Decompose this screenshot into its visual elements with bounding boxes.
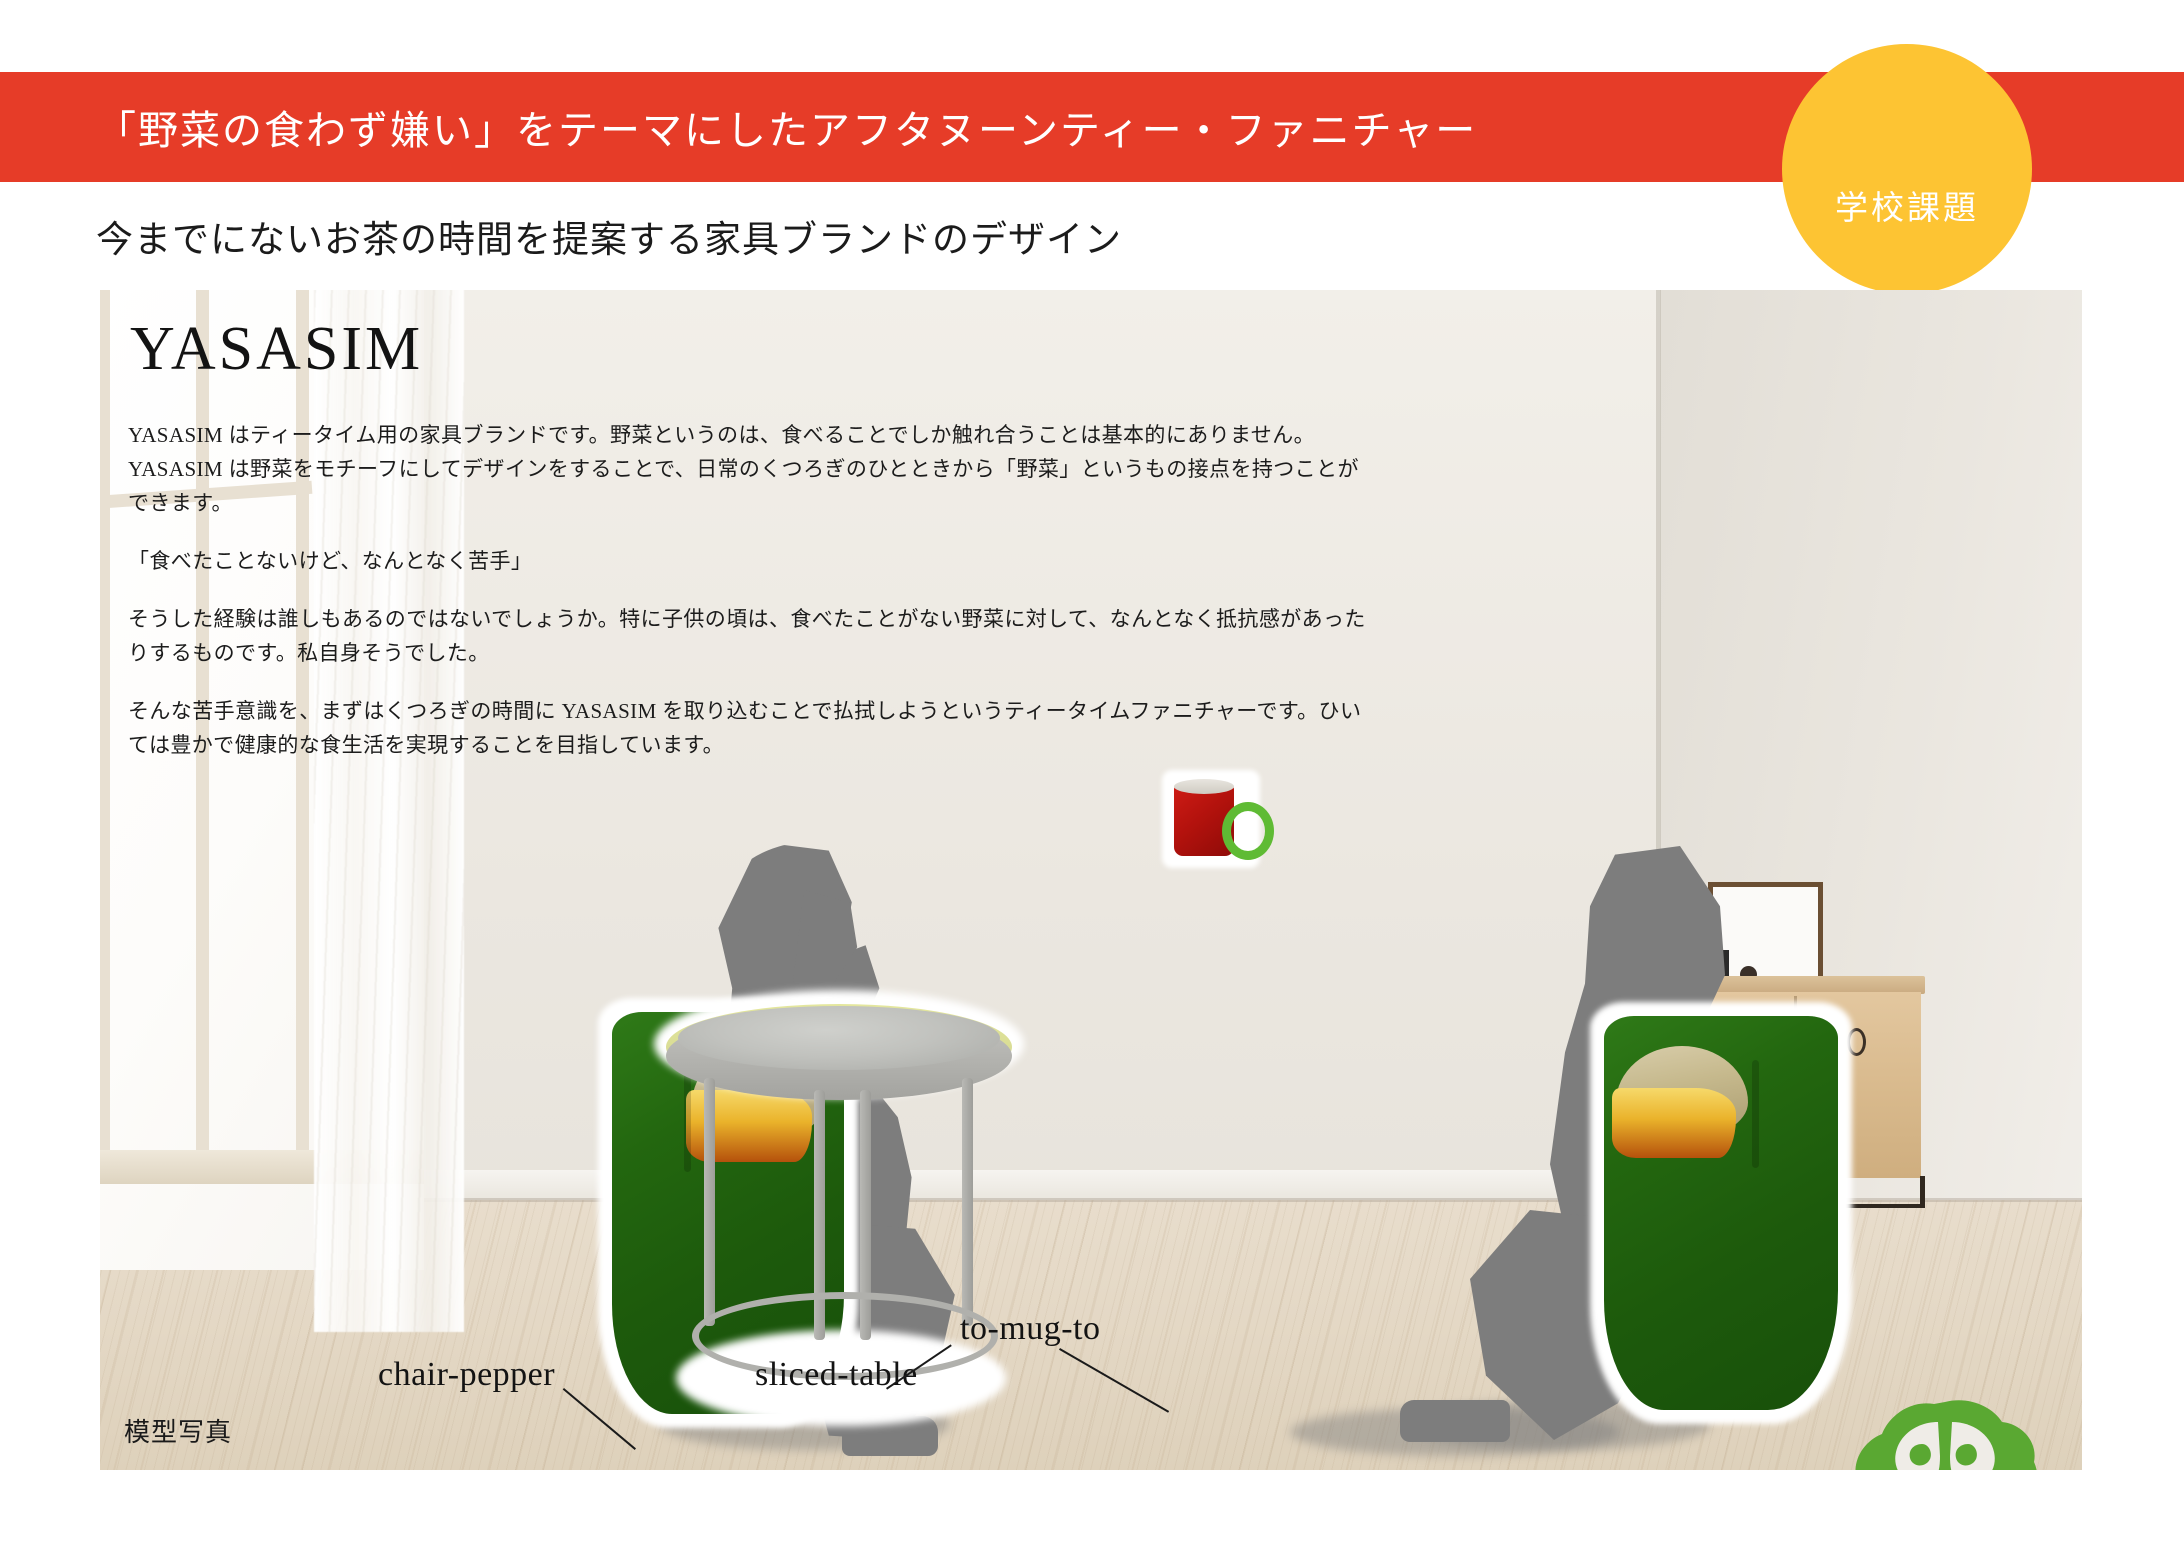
brand-logo: やさしむ — [1800, 1400, 2082, 1470]
description-paragraph-4: そんな苦手意識を、まずはくつろぎの時間に YASASIM を取り込むことで払拭し… — [128, 694, 1378, 762]
table-leg-4 — [962, 1078, 973, 1326]
brand-description: YASASIM はティータイム用の家具ブランドです。野菜というのは、食べることで… — [128, 418, 1378, 788]
model-photo: 模型写真 — [100, 290, 2082, 1470]
chair-right-seed-pad — [1612, 1088, 1736, 1158]
portfolio-slide: 「野菜の食わず嫌い」をテーマにしたアフタヌーンティー・ファニチャー 学校課題 今… — [0, 0, 2184, 1544]
status-badge: 学校課題 — [1782, 44, 2032, 294]
callout-to-mug-to: to-mug-to — [960, 1310, 1100, 1348]
callout-chair-pepper: chair-pepper — [378, 1356, 555, 1394]
silhouette-right-foot — [1400, 1400, 1510, 1442]
mug-handle — [1222, 802, 1274, 860]
table-leg-1 — [704, 1078, 715, 1326]
chair-right-rib — [1752, 1060, 1759, 1168]
table-top-surface — [678, 1006, 1000, 1070]
status-badge-label: 学校課題 — [1835, 181, 1979, 229]
brand-heading: YASASIM — [130, 314, 423, 385]
page-subtitle: 今までにないお茶の時間を提案する家具ブランドのデザイン — [96, 212, 1696, 268]
window-frame-left — [100, 290, 110, 1170]
page-title: 「野菜の食わず嫌い」をテーマにしたアフタヌーンティー・ファニチャー — [96, 96, 1656, 166]
callout-sliced-table: sliced-table — [755, 1356, 918, 1394]
description-paragraph-1: YASASIM はティータイム用の家具ブランドです。野菜というのは、食べることで… — [128, 418, 1378, 520]
description-paragraph-2: 「食べたことないけど、なんとなく苦手」 — [128, 544, 1378, 578]
photo-caption: 模型写真 — [124, 1412, 232, 1449]
lotus-root-logo-icon — [1852, 1400, 2038, 1470]
description-paragraph-3: そうした経験は誰しもあるのではないでしょうか。特に子供の頃は、食べたことがない野… — [128, 602, 1378, 670]
